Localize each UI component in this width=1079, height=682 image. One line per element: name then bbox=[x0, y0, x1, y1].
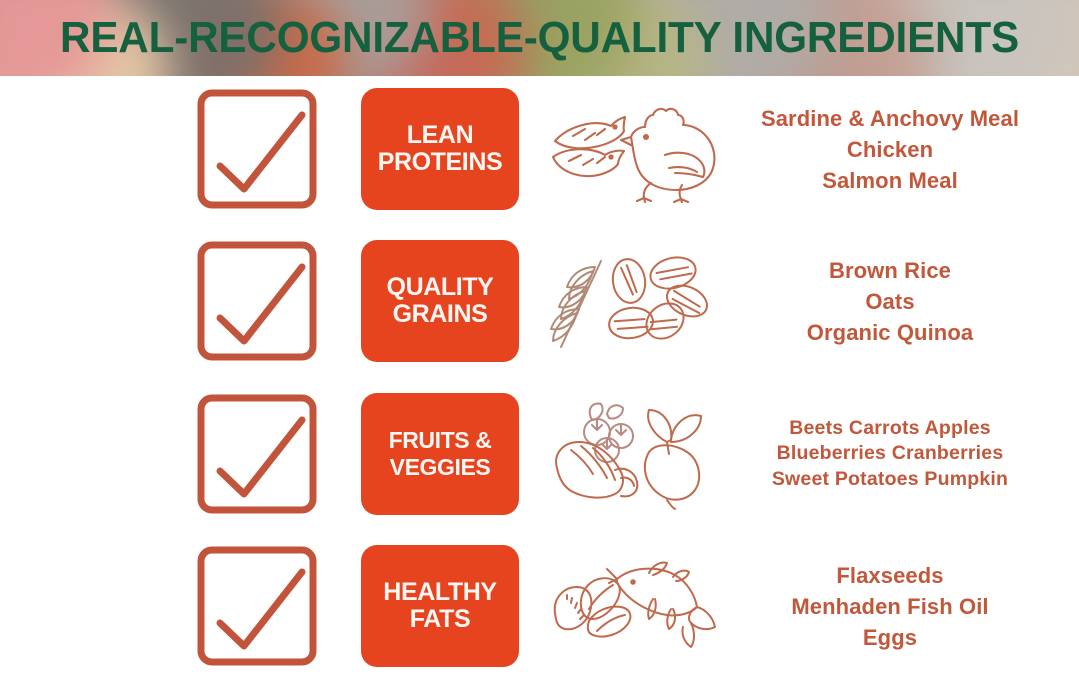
ingredient-item: Oats bbox=[865, 286, 914, 317]
flaxseeds-and-fish-icon bbox=[545, 551, 721, 661]
badge-line-1: LEAN bbox=[407, 122, 473, 149]
fruits-veggies-checkbox[interactable] bbox=[196, 393, 320, 515]
ingredient-rows: LEAN PROTEINS bbox=[0, 76, 1079, 682]
category-badge-fruits-veggies[interactable]: FRUITS & VEGGIES bbox=[361, 393, 519, 515]
icon-cell bbox=[540, 88, 726, 210]
badge-line-2: FATS bbox=[410, 606, 470, 633]
checkmark-box-icon bbox=[196, 545, 320, 667]
ingredient-row: FRUITS & VEGGIES bbox=[0, 393, 1079, 545]
page-title: REAL-RECOGNIZABLE-QUALITY INGREDIENTS bbox=[22, 0, 1058, 76]
category-badge-healthy-fats[interactable]: HEALTHY FATS bbox=[361, 545, 519, 667]
ingredient-row: LEAN PROTEINS bbox=[0, 88, 1079, 240]
badge-line-2: VEGGIES bbox=[390, 454, 491, 481]
ingredient-item: Blueberries Cranberries bbox=[777, 441, 1004, 467]
badge-line-1: QUALITY bbox=[387, 274, 494, 301]
ingredient-item: Menhaden Fish Oil bbox=[791, 591, 988, 622]
badge-line-2: PROTEINS bbox=[378, 149, 503, 176]
ingredient-item: Chicken bbox=[847, 134, 933, 165]
ingredient-list: Brown Rice Oats Organic Quinoa bbox=[716, 240, 1064, 362]
berries-sweet-potato-beet-icon bbox=[545, 398, 721, 510]
ingredient-item: Beets Carrots Apples bbox=[789, 416, 991, 442]
ingredient-list: Beets Carrots Apples Blueberries Cranber… bbox=[716, 393, 1064, 515]
icon-cell bbox=[540, 393, 726, 515]
icon-cell bbox=[540, 240, 726, 362]
grain-stalk-and-seeds-icon bbox=[545, 247, 721, 355]
lean-proteins-checkbox[interactable] bbox=[196, 88, 320, 210]
quality-grains-checkbox[interactable] bbox=[196, 240, 320, 362]
badge-line-2: GRAINS bbox=[393, 301, 488, 328]
checkmark-box-icon bbox=[196, 88, 320, 210]
ingredient-list: Flaxseeds Menhaden Fish Oil Eggs bbox=[716, 545, 1064, 667]
ingredient-item: Sardine & Anchovy Meal bbox=[761, 103, 1019, 134]
ingredient-item: Organic Quinoa bbox=[807, 317, 973, 348]
category-badge-quality-grains[interactable]: QUALITY GRAINS bbox=[361, 240, 519, 362]
healthy-fats-checkbox[interactable] bbox=[196, 545, 320, 667]
header-banner: REAL-RECOGNIZABLE-QUALITY INGREDIENTS bbox=[0, 0, 1079, 76]
ingredient-item: Brown Rice bbox=[829, 255, 951, 286]
ingredient-item: Flaxseeds bbox=[836, 560, 943, 591]
checkmark-box-icon bbox=[196, 393, 320, 515]
fish-and-chicken-icon bbox=[545, 95, 721, 203]
ingredient-list: Sardine & Anchovy Meal Chicken Salmon Me… bbox=[716, 88, 1064, 210]
icon-cell bbox=[540, 545, 726, 667]
badge-line-1: FRUITS & bbox=[389, 427, 492, 454]
checkmark-box-icon bbox=[196, 240, 320, 362]
ingredient-item: Eggs bbox=[863, 622, 917, 653]
ingredient-row: QUALITY GRAINS bbox=[0, 240, 1079, 392]
category-badge-lean-proteins[interactable]: LEAN PROTEINS bbox=[361, 88, 519, 210]
ingredient-item: Sweet Potatoes Pumpkin bbox=[772, 467, 1008, 493]
ingredient-row: HEALTHY FATS bbox=[0, 545, 1079, 682]
ingredients-infographic: REAL-RECOGNIZABLE-QUALITY INGREDIENTS LE… bbox=[0, 0, 1079, 682]
ingredient-item: Salmon Meal bbox=[822, 165, 958, 196]
badge-line-1: HEALTHY bbox=[383, 579, 496, 606]
